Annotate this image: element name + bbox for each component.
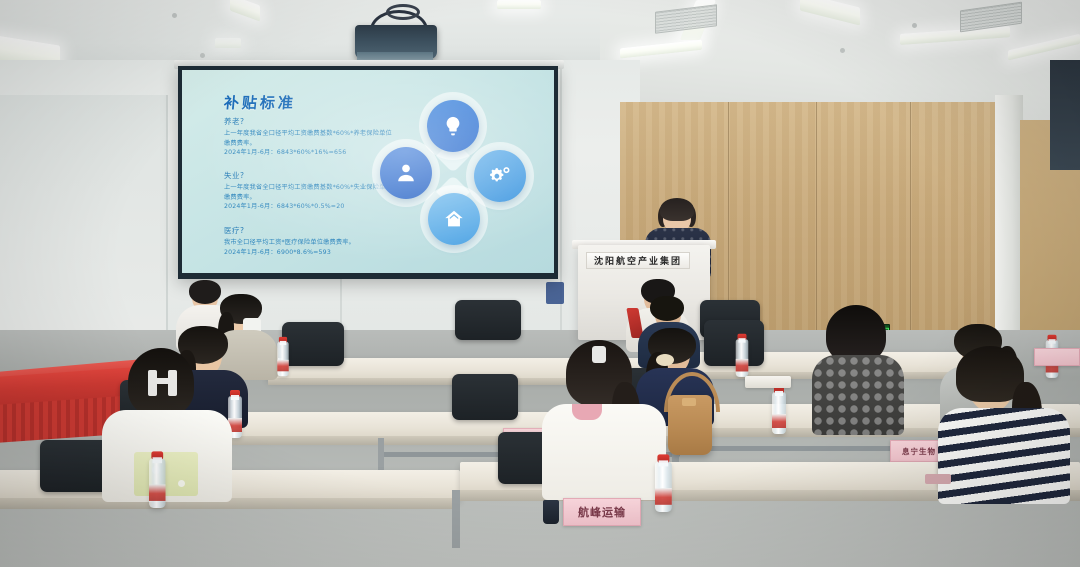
podium-sign: 沈阳航空产业集团 [586, 252, 690, 269]
left-wall-panel [0, 95, 168, 360]
slide-question: 失业? [224, 170, 394, 181]
ceiling-light [497, 0, 541, 9]
shirt-flower [178, 480, 185, 487]
chair [282, 322, 344, 366]
slide-block-pension: 养老? 上一年度我省全口径平均工资缴费基数*60%*养老保险单位缴费费率。 20… [224, 116, 394, 158]
cup [543, 500, 559, 524]
bottle-label [655, 488, 672, 505]
handbag-buckle [682, 398, 696, 406]
shirt-graphic [134, 452, 198, 496]
hair-clip [592, 346, 606, 363]
slide-title: 补贴标准 [223, 92, 297, 113]
slide-body: 我市全口径平均工资*医疗保险单位缴费费率。 [224, 238, 355, 248]
ceiling-sprinkler [172, 13, 177, 18]
slide-calc: 2024年1月-6月：6843*60%*0.5%=20 [224, 202, 394, 212]
wood-plank-seam [816, 102, 817, 352]
torso [812, 355, 904, 435]
person-icon [380, 147, 432, 199]
slide-block-medical: 医疗? 我市全口径平均工资*医疗保险单位缴费费率。 2024年1月-6月：690… [224, 225, 355, 257]
slide-calc: 2024年1月-6月：6843*60%*16%=656 [224, 148, 394, 158]
water-bottle [772, 392, 786, 434]
bottle-label [772, 414, 786, 428]
torso [938, 408, 1070, 504]
podium-sign-label: 沈阳航空产业集团 [594, 254, 682, 267]
hair [650, 296, 684, 321]
bottle-label [149, 484, 166, 501]
wood-plank-seam [910, 102, 911, 352]
hair-tie [656, 354, 674, 366]
water-bottle [655, 462, 672, 512]
wall-sign [546, 282, 564, 304]
chair [455, 300, 521, 340]
hair-clip [148, 378, 177, 384]
water-bottle [736, 339, 749, 377]
chair [704, 320, 764, 366]
slide-question: 养老? [224, 116, 394, 127]
slide-block-unemployment: 失业? 上一年度我省全口径平均工资缴费基数*60%*失业保险单位缴费费率。 20… [224, 170, 394, 212]
ceiling-light [215, 38, 241, 48]
collar [572, 404, 602, 420]
water-bottle [277, 342, 288, 376]
wall-seam [560, 62, 562, 362]
chair [452, 374, 518, 420]
torso [542, 404, 666, 500]
water-bottle [149, 458, 166, 508]
projection-screen: 补贴标准 养老? 上一年度我省全口径平均工资缴费基数*60%*养老保险单位缴费费… [182, 70, 554, 273]
slide-body: 上一年度我省全口径平均工资缴费基数*60%*养老保险单位缴费费率。 [224, 129, 394, 148]
name-card-far-right [1034, 348, 1080, 366]
meeting-room-photo: 安全出口 补贴标准 养老? 上一年度我省全口径平均工资缴费基数*60%*养老保险… [0, 0, 1080, 567]
name-card-label: 息宁生物 [902, 446, 936, 457]
gears-icon [474, 150, 526, 202]
slide-body: 上一年度我省全口径平均工资缴费基数*60%*失业保险单位缴费费率。 [224, 183, 394, 202]
phone-on-desk [925, 474, 951, 484]
ceiling-sprinkler [912, 23, 917, 28]
bottle-label [736, 359, 749, 372]
slide-question: 医疗? [224, 225, 355, 236]
name-card-label: 航峰运输 [578, 504, 626, 520]
name-card-hangfeng: 航峰运输 [563, 498, 641, 526]
ceiling-sprinkler [200, 53, 205, 58]
dark-wall-panel [1050, 60, 1080, 170]
home-icon [428, 193, 480, 245]
ceiling-sprinkler [840, 48, 845, 53]
notebook [745, 376, 791, 388]
slide-icon-cluster [378, 100, 528, 248]
hair [189, 280, 221, 304]
slide-calc: 2024年1月-6月：6900*8.6%=593 [224, 248, 355, 258]
projector-cable-icon [386, 4, 420, 20]
speaker-hair [660, 198, 694, 221]
bottle-label [277, 360, 288, 371]
lightbulb-icon [427, 100, 479, 152]
desk-leg [452, 490, 460, 548]
